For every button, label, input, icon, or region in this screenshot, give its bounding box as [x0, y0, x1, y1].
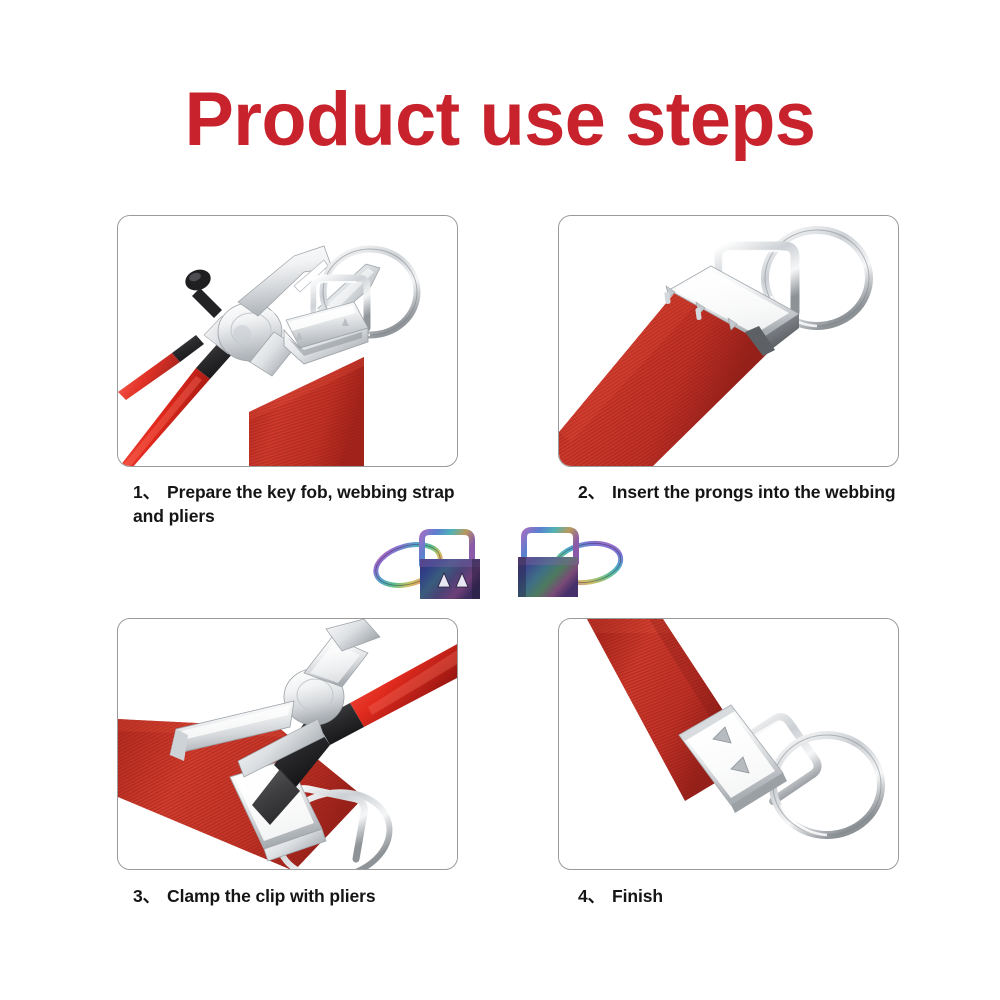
- clamping-clip-with-pliers-illustration: [118, 619, 457, 869]
- step-3-photo: [118, 619, 457, 869]
- step-1-text: Prepare the key fob, webbing strap and p…: [133, 482, 454, 526]
- step-3-image-panel: [117, 618, 458, 870]
- step-4-image-panel: [558, 618, 899, 870]
- page-title: Product use steps: [15, 78, 985, 162]
- rainbow-key-fob-back-view: [518, 530, 624, 597]
- step-1-photo: [118, 216, 457, 466]
- prongs-inserted-webbing-illustration: [559, 216, 898, 466]
- step-2-number: 2、: [578, 482, 605, 502]
- step-2-image-panel: [558, 215, 899, 467]
- step-3-number: 3、: [133, 886, 160, 906]
- step-1-number: 1、: [133, 482, 160, 502]
- step-4-caption: 4、Finish: [578, 884, 908, 908]
- finished-key-fob-illustration: [559, 619, 898, 869]
- step-4-photo: [559, 619, 898, 869]
- step-4-number: 4、: [578, 886, 605, 906]
- step-4-text: Finish: [612, 886, 663, 906]
- step-1-image-panel: [117, 215, 458, 467]
- step-1-caption: 1、Prepare the key fob, webbing strap and…: [133, 480, 463, 528]
- step-3-caption: 3、Clamp the clip with pliers: [133, 884, 463, 908]
- step-2-caption: 2、Insert the prongs into the webbing: [578, 480, 908, 504]
- step-2-photo: [559, 216, 898, 466]
- step-3-text: Clamp the clip with pliers: [167, 886, 375, 906]
- pliers-key-fob-webbing-illustration: [118, 216, 457, 466]
- rainbow-key-fob-front-view: [372, 532, 480, 599]
- step-2-text: Insert the prongs into the webbing: [612, 482, 895, 502]
- rainbow-key-fob-hardware-pair: [372, 521, 628, 605]
